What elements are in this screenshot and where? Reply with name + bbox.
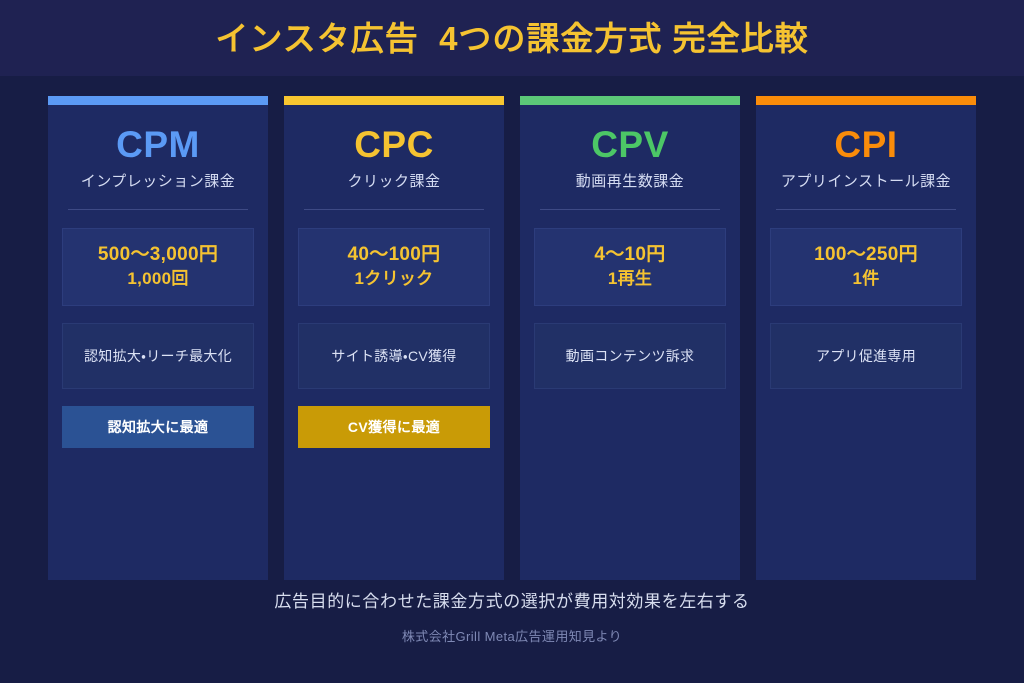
price-box-cpv: 4〜10円 1再生 — [534, 228, 726, 306]
card-code-cpv: CPV — [534, 125, 726, 166]
card-name-cpi: アプリインストール課金 — [770, 173, 962, 191]
card-divider-cpm — [68, 209, 248, 210]
card-name-cpv: 動画再生数課金 — [534, 173, 726, 191]
slide-root: インスタ広告 4つの課金方式 完全比較 CPM インプレッション課金 500〜3… — [0, 0, 1024, 683]
pricing-card-cpc[interactable]: CPC クリック課金 40〜100円 1クリック サイト誘導・CV獲得 CV獲得… — [284, 96, 504, 580]
card-accent-bar-cpc — [284, 96, 504, 105]
pricing-card-cpi[interactable]: CPI アプリインストール課金 100〜250円 1件 アプリ促進専用 — [756, 96, 976, 580]
card-divider-cpc — [304, 209, 484, 210]
best-for-badge-placeholder-cpi — [770, 406, 962, 448]
pricing-card-cpm[interactable]: CPM インプレッション課金 500〜3,000円 1,000回 認知拡大・リー… — [48, 96, 268, 580]
price-unit-cpc: 1クリック — [355, 270, 434, 289]
card-name-cpc: クリック課金 — [298, 173, 490, 191]
best-for-badge-label-cpm: 認知拡大に最適 — [108, 420, 209, 434]
card-accent-bar-cpv — [520, 96, 740, 105]
comparison-cards-row: CPM インプレッション課金 500〜3,000円 1,000回 認知拡大・リー… — [48, 96, 976, 580]
description-text-cpi: アプリ促進専用 — [816, 347, 916, 365]
footer-headline: 広告目的に合わせた課金方式の選択が費用対効果を左右する — [0, 592, 1024, 612]
card-name-cpm: インプレッション課金 — [62, 173, 254, 191]
footer: 広告目的に合わせた課金方式の選択が費用対効果を左右する 株式会社Grill Me… — [0, 592, 1024, 645]
price-unit-cpv: 1再生 — [608, 270, 652, 289]
description-text-cpv: 動画コンテンツ訴求 — [566, 347, 695, 365]
best-for-badge-placeholder-cpv — [534, 406, 726, 448]
card-code-cpi: CPI — [770, 125, 962, 166]
header-band: インスタ広告 4つの課金方式 完全比較 — [0, 0, 1024, 76]
footer-source: 株式会社Grill Meta広告運用知見より — [0, 629, 1024, 645]
card-code-cpm: CPM — [62, 125, 254, 166]
card-divider-cpi — [776, 209, 956, 210]
best-for-badge-cpc[interactable]: CV獲得に最適 — [298, 406, 490, 448]
description-box-cpm: 認知拡大・リーチ最大化 — [62, 323, 254, 389]
pricing-card-cpv[interactable]: CPV 動画再生数課金 4〜10円 1再生 動画コンテンツ訴求 — [520, 96, 740, 580]
price-unit-cpm: 1,000回 — [127, 270, 188, 289]
card-accent-bar-cpm — [48, 96, 268, 105]
description-text-cpc: サイト誘導・CV獲得 — [331, 347, 456, 365]
card-accent-bar-cpi — [756, 96, 976, 105]
price-range-cpc: 40〜100円 — [348, 245, 441, 266]
price-box-cpc: 40〜100円 1クリック — [298, 228, 490, 306]
price-range-cpi: 100〜250円 — [814, 245, 918, 266]
card-divider-cpv — [540, 209, 720, 210]
price-box-cpm: 500〜3,000円 1,000回 — [62, 228, 254, 306]
description-text-cpm: 認知拡大・リーチ最大化 — [84, 347, 232, 365]
price-range-cpm: 500〜3,000円 — [98, 245, 218, 266]
best-for-badge-label-cpc: CV獲得に最適 — [348, 420, 440, 434]
description-box-cpc: サイト誘導・CV獲得 — [298, 323, 490, 389]
best-for-badge-cpm[interactable]: 認知拡大に最適 — [62, 406, 254, 448]
description-box-cpv: 動画コンテンツ訴求 — [534, 323, 726, 389]
price-box-cpi: 100〜250円 1件 — [770, 228, 962, 306]
description-box-cpi: アプリ促進専用 — [770, 323, 962, 389]
price-unit-cpi: 1件 — [852, 270, 879, 289]
page-title: インスタ広告 4つの課金方式 完全比較 — [215, 22, 808, 55]
card-code-cpc: CPC — [298, 125, 490, 166]
price-range-cpv: 4〜10円 — [594, 245, 665, 266]
